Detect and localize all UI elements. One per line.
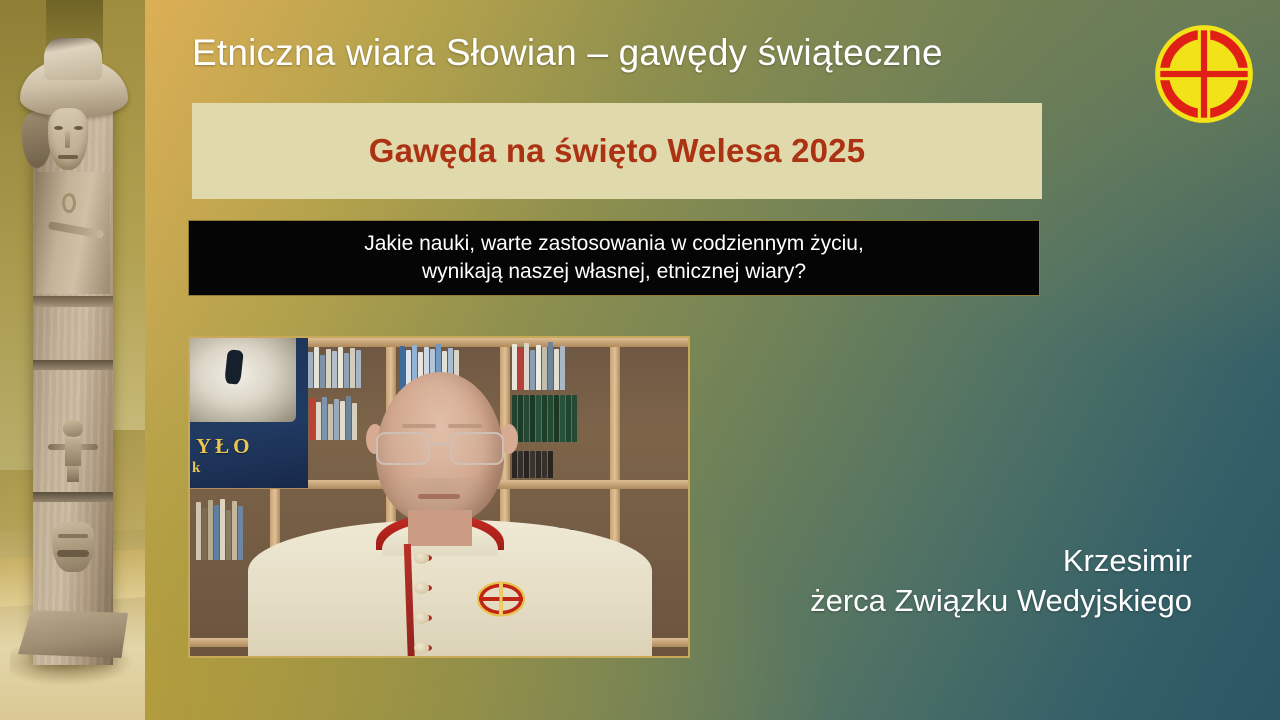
glasses-lens-left <box>376 432 430 465</box>
idol-lower-face-moustache <box>57 550 89 557</box>
book-row-top-right <box>512 342 606 390</box>
sun-cross-logo <box>1152 22 1256 126</box>
idol-tier-divider-3 <box>33 492 113 502</box>
idol-belt-band <box>33 296 113 307</box>
sun-cross-emblem <box>476 581 526 617</box>
speaker-video-thumbnail[interactable]: YŁO k <box>188 336 690 658</box>
speaker-name: Krzesimir <box>810 541 1192 581</box>
glasses-lens-right <box>450 432 504 465</box>
jacket-button-1 <box>414 552 429 564</box>
banner-text: YŁO <box>196 434 254 459</box>
idol-lower-face <box>52 522 94 572</box>
idol-middle-figure-head <box>63 420 83 437</box>
idol-eye-right <box>74 126 83 130</box>
idol-middle-figure-legs <box>67 466 79 482</box>
question-panel: Jakie nauki, warte zastosowania w codzie… <box>188 220 1040 296</box>
speaker-role: żerca Związku Wedyjskiego <box>810 581 1192 621</box>
horse-banner: YŁO k <box>190 338 308 488</box>
glasses-bridge <box>430 443 452 445</box>
jacket-button-4 <box>414 642 429 654</box>
idol-middle-figure-torso <box>65 438 81 466</box>
horse-image <box>190 338 296 422</box>
subtitle-text: Gawęda na święto Welesa 2025 <box>369 132 866 170</box>
idol-eye-left <box>54 126 63 130</box>
speaker-neck <box>408 510 472 546</box>
question-line-2: wynikają naszej własnej, etnicznej wiary… <box>422 259 806 285</box>
idol-nose <box>65 131 70 148</box>
idol-hat-crown <box>44 38 102 80</box>
speaker-credit: Krzesimir żerca Związku Wedyjskiego <box>810 541 1192 620</box>
presentation-slide: Etniczna wiara Słowian – gawędy świątecz… <box>0 0 1280 720</box>
book-row-dark-set <box>512 450 606 478</box>
jacket-button-2 <box>414 582 429 594</box>
speaker-brow-left <box>402 424 436 428</box>
book-row-top-left <box>302 346 384 388</box>
question-line-1: Jakie nauki, warte zastosowania w codzie… <box>364 231 864 257</box>
subtitle-panel: Gawęda na święto Welesa 2025 <box>192 103 1042 199</box>
speaker-mouth <box>418 494 460 499</box>
idol-middle-figure <box>56 420 90 482</box>
banner-text-small: k <box>192 460 200 477</box>
book-row-left-mid <box>196 498 268 560</box>
speaker-glasses <box>372 432 510 466</box>
page-title: Etniczna wiara Słowian – gawędy świątecz… <box>192 33 1052 74</box>
book-row-green-set <box>512 394 606 442</box>
idol-ring-relief <box>62 193 76 213</box>
idol-lower-face-brow <box>58 534 88 538</box>
idol-tier-divider-2 <box>33 360 113 370</box>
zbruch-idol-photo <box>0 0 145 720</box>
idol-base <box>18 610 128 658</box>
idol-mouth <box>58 155 78 159</box>
jacket-button-3 <box>414 612 429 624</box>
speaker-brow-right <box>448 424 482 428</box>
